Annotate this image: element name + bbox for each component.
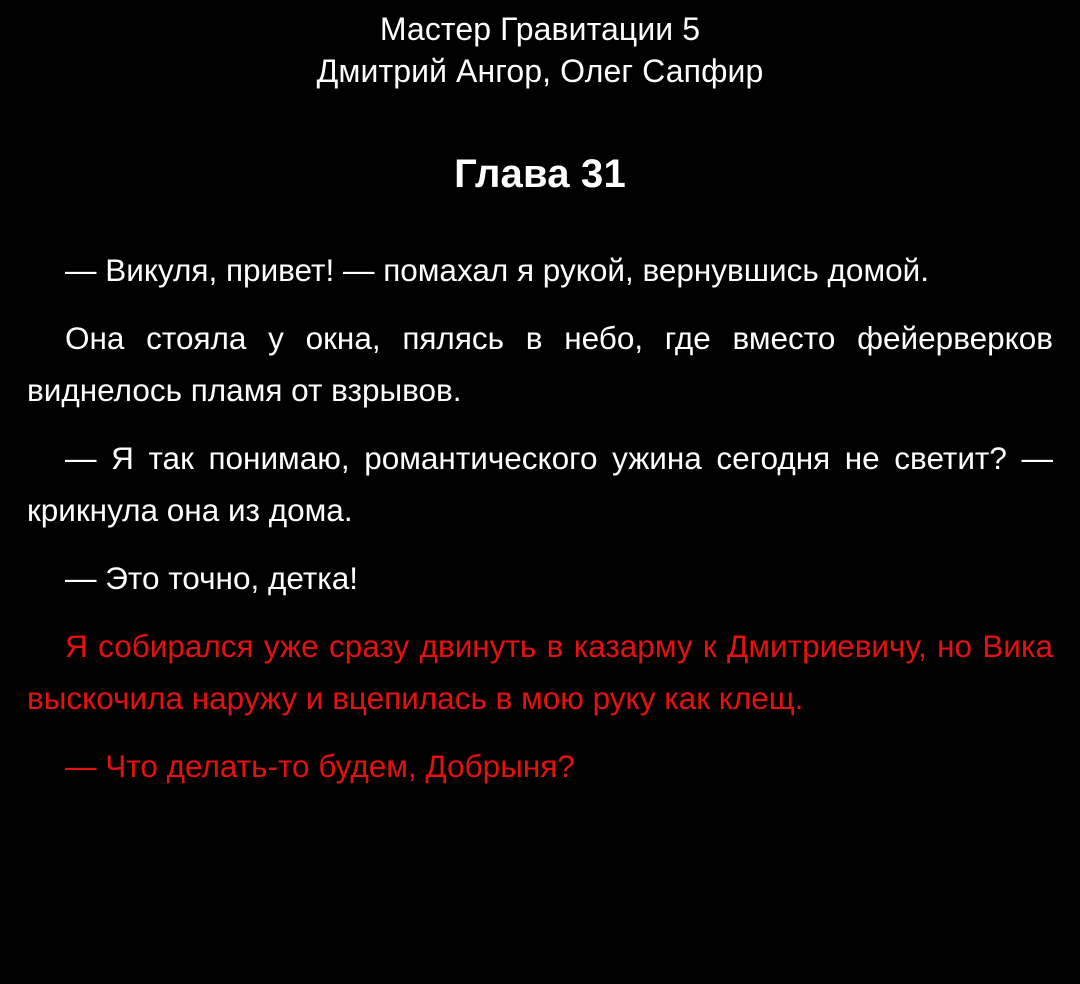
paragraph: — Викуля, привет! — помахал я рукой, вер…: [27, 244, 1053, 296]
book-title: Мастер Гравитации 5: [0, 8, 1080, 50]
book-authors: Дмитрий Ангор, Олег Сапфир: [0, 50, 1080, 92]
paragraph: — Я так понимаю, романтического ужина се…: [27, 432, 1053, 536]
book-header: Мастер Гравитации 5 Дмитрий Ангор, Олег …: [0, 0, 1080, 92]
paragraph: Она стояла у окна, пялясь в небо, где вм…: [27, 312, 1053, 416]
paragraph-highlighted: — Что делать-то будем, Добрыня?: [27, 740, 1053, 792]
paragraph: — Это точно, детка!: [27, 552, 1053, 604]
paragraph-highlighted: Я собирался уже сразу двинуть в казарму …: [27, 620, 1053, 724]
chapter-heading: Глава 31: [0, 92, 1080, 198]
chapter-body: — Викуля, привет! — помахал я рукой, вер…: [0, 198, 1080, 792]
reader-view: Мастер Гравитации 5 Дмитрий Ангор, Олег …: [0, 0, 1080, 984]
